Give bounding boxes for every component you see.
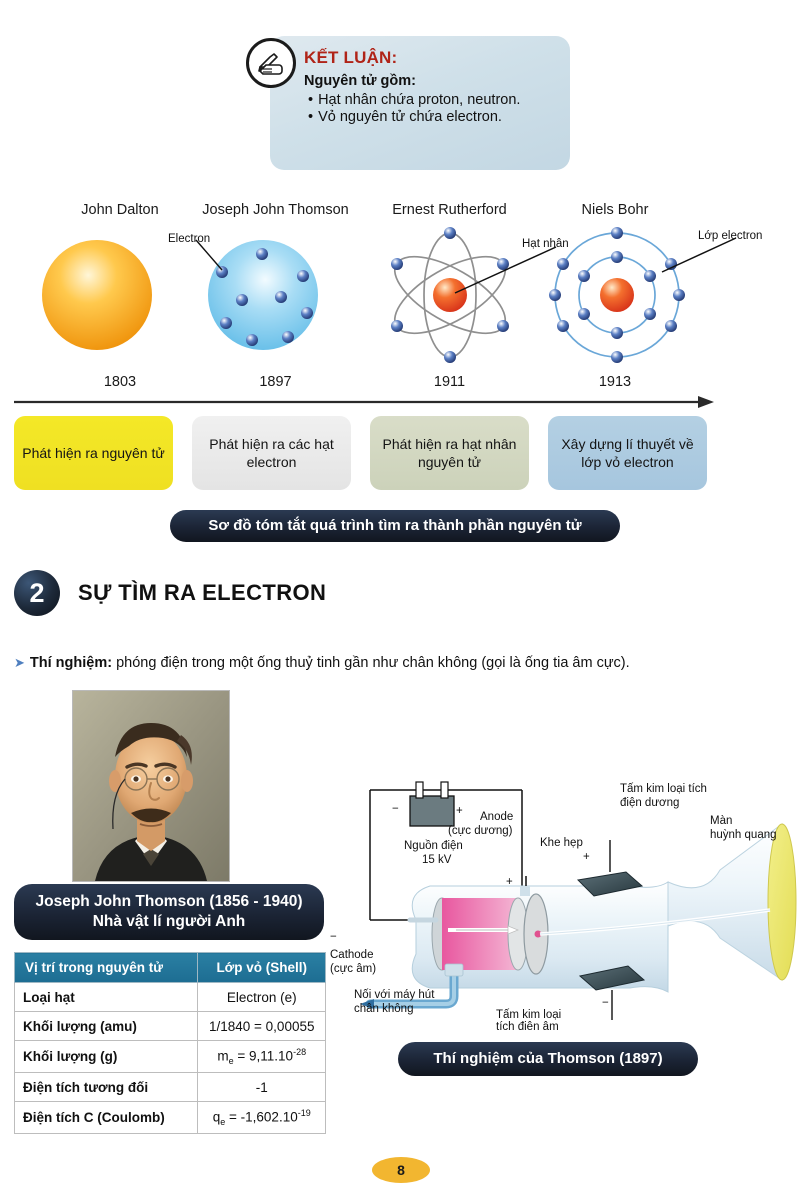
atomic-models-illustration (0, 190, 803, 390)
label-cathode-sub: (cực âm) (330, 963, 376, 975)
label-slit: Khe hẹp (540, 837, 583, 849)
label-anode: Anode (480, 811, 513, 823)
table-row: Khối lượng (g) me = 9,11.10-28 (15, 1041, 326, 1073)
row-label-mass-g: Khối lượng (g) (15, 1041, 198, 1073)
section-title: SỰ TÌM RA ELECTRON (78, 580, 326, 606)
label-plate-pos-line1: Tấm kim loại tích (620, 783, 707, 795)
thomson-name-line2: Nhà vật lí người Anh (35, 912, 302, 932)
arrow-bullet-icon: ➤ (14, 655, 25, 670)
label-plate-neg-line2: tích điện âm (496, 1021, 559, 1030)
table-header-row: Vị trí trong nguyên tử Lớp vỏ (Shell) (15, 953, 326, 983)
cathode-minus-icon: − (330, 931, 337, 943)
row-value-mass-amu: 1/1840 = 0,00055 (198, 1012, 326, 1041)
table-row: Điện tích tương đối -1 (15, 1073, 326, 1102)
timeline-arrow (14, 396, 714, 410)
diagram-caption: Sơ đồ tóm tắt quá trình tìm ra thành phầ… (170, 510, 620, 542)
tube-cone (668, 824, 796, 980)
row-label-charge-coulomb: Điện tích C (Coulomb) (15, 1102, 198, 1134)
experiment-description: ➤Thí nghiệm: phóng điện trong một ống th… (14, 655, 794, 671)
power-source-battery (410, 782, 454, 826)
table-row: Khối lượng (amu) 1/1840 = 0,00055 (15, 1012, 326, 1041)
table-header-shell: Lớp vỏ (Shell) (198, 953, 326, 983)
page-number: 8 (372, 1157, 430, 1183)
table-row: Loại hạt Electron (e) (15, 983, 326, 1012)
row-value-mass-g: me = 9,11.10-28 (198, 1041, 326, 1073)
anode-plus-icon: + (506, 876, 513, 888)
stage-box-shell-theory: Xây dựng lí thuyết về lớp vỏ electron (548, 416, 707, 490)
hand-writing-icon (246, 38, 296, 88)
table-row: Điện tích C (Coulomb) qe = -1,602.10-19 (15, 1102, 326, 1134)
row-value-relative-charge: -1 (198, 1073, 326, 1102)
model-thomson-plum-pudding (196, 240, 318, 350)
battery-plus-icon: + (456, 805, 463, 817)
model-bohr-shells (549, 227, 736, 363)
thomson-apparatus-diagram: − + Nguồn điện 15 kV Anode (cực dương) + (330, 768, 800, 1030)
experiment-label: Thí nghiệm: (30, 655, 112, 671)
plate-plus-icon: + (583, 851, 590, 863)
stage-box-discovery-electron: Phát hiện ra các hạt electron (192, 416, 351, 490)
thomson-portrait (72, 690, 230, 882)
stage-box-discovery-nucleus: Phát hiện ra hạt nhân nguyên tử (370, 416, 529, 490)
label-screen-line2: huỳnh quang (710, 829, 777, 841)
label-vacuum-line2: chân không (354, 1003, 413, 1015)
conclusion-title: KẾT LUẬN: (304, 48, 556, 68)
conclusion-item-1: Vỏ nguyên tử chứa electron. (308, 109, 556, 125)
thomson-name-line1: Joseph John Thomson (1856 - 1940) (35, 892, 302, 912)
label-plate-pos-line2: điện dương (620, 797, 679, 809)
electron-properties-table: Vị trí trong nguyên tử Lớp vỏ (Shell) Lo… (14, 952, 326, 1134)
battery-minus-icon: − (392, 803, 399, 815)
deflection-plate-negative (580, 966, 644, 1020)
thomson-name-caption: Joseph John Thomson (1856 - 1940) Nhà vậ… (14, 884, 324, 940)
label-plate-neg-line1: Tấm kim loại (496, 1009, 561, 1021)
conclusion-box: KẾT LUẬN: Nguyên tử gồm: Hạt nhân chứa p… (270, 36, 570, 170)
table-header-position: Vị trí trong nguyên tử (15, 953, 198, 983)
deflection-plate-positive (578, 840, 642, 896)
model-rutherford-orbits (383, 227, 556, 363)
row-value-particle-type: Electron (e) (198, 983, 326, 1012)
plate-minus-icon: − (602, 997, 609, 1009)
label-power-source: Nguồn điện (404, 840, 463, 852)
label-anode-sub: (cực dương) (448, 825, 513, 837)
row-label-relative-charge: Điện tích tương đối (15, 1073, 198, 1102)
label-cathode: Cathode (330, 949, 373, 961)
label-power-value: 15 kV (422, 854, 452, 866)
label-screen-line1: Màn (710, 815, 732, 827)
experiment-caption: Thí nghiệm của Thomson (1897) (398, 1042, 698, 1076)
row-value-charge-coulomb: qe = -1,602.10-19 (198, 1102, 326, 1134)
model-dalton-sphere (42, 240, 152, 350)
conclusion-item-0: Hạt nhân chứa proton, neutron. (308, 92, 556, 108)
section-number-badge: 2 (14, 570, 60, 616)
label-vacuum-line1: Nối với máy hút (354, 989, 435, 1001)
row-label-mass-amu: Khối lượng (amu) (15, 1012, 198, 1041)
row-label-particle-type: Loại hạt (15, 983, 198, 1012)
stage-box-discovery-atom: Phát hiện ra nguyên tử (14, 416, 173, 490)
experiment-text: phóng điện trong một ống thuỷ tinh gần n… (112, 655, 630, 671)
conclusion-subtitle: Nguyên tử gồm: (304, 73, 556, 89)
